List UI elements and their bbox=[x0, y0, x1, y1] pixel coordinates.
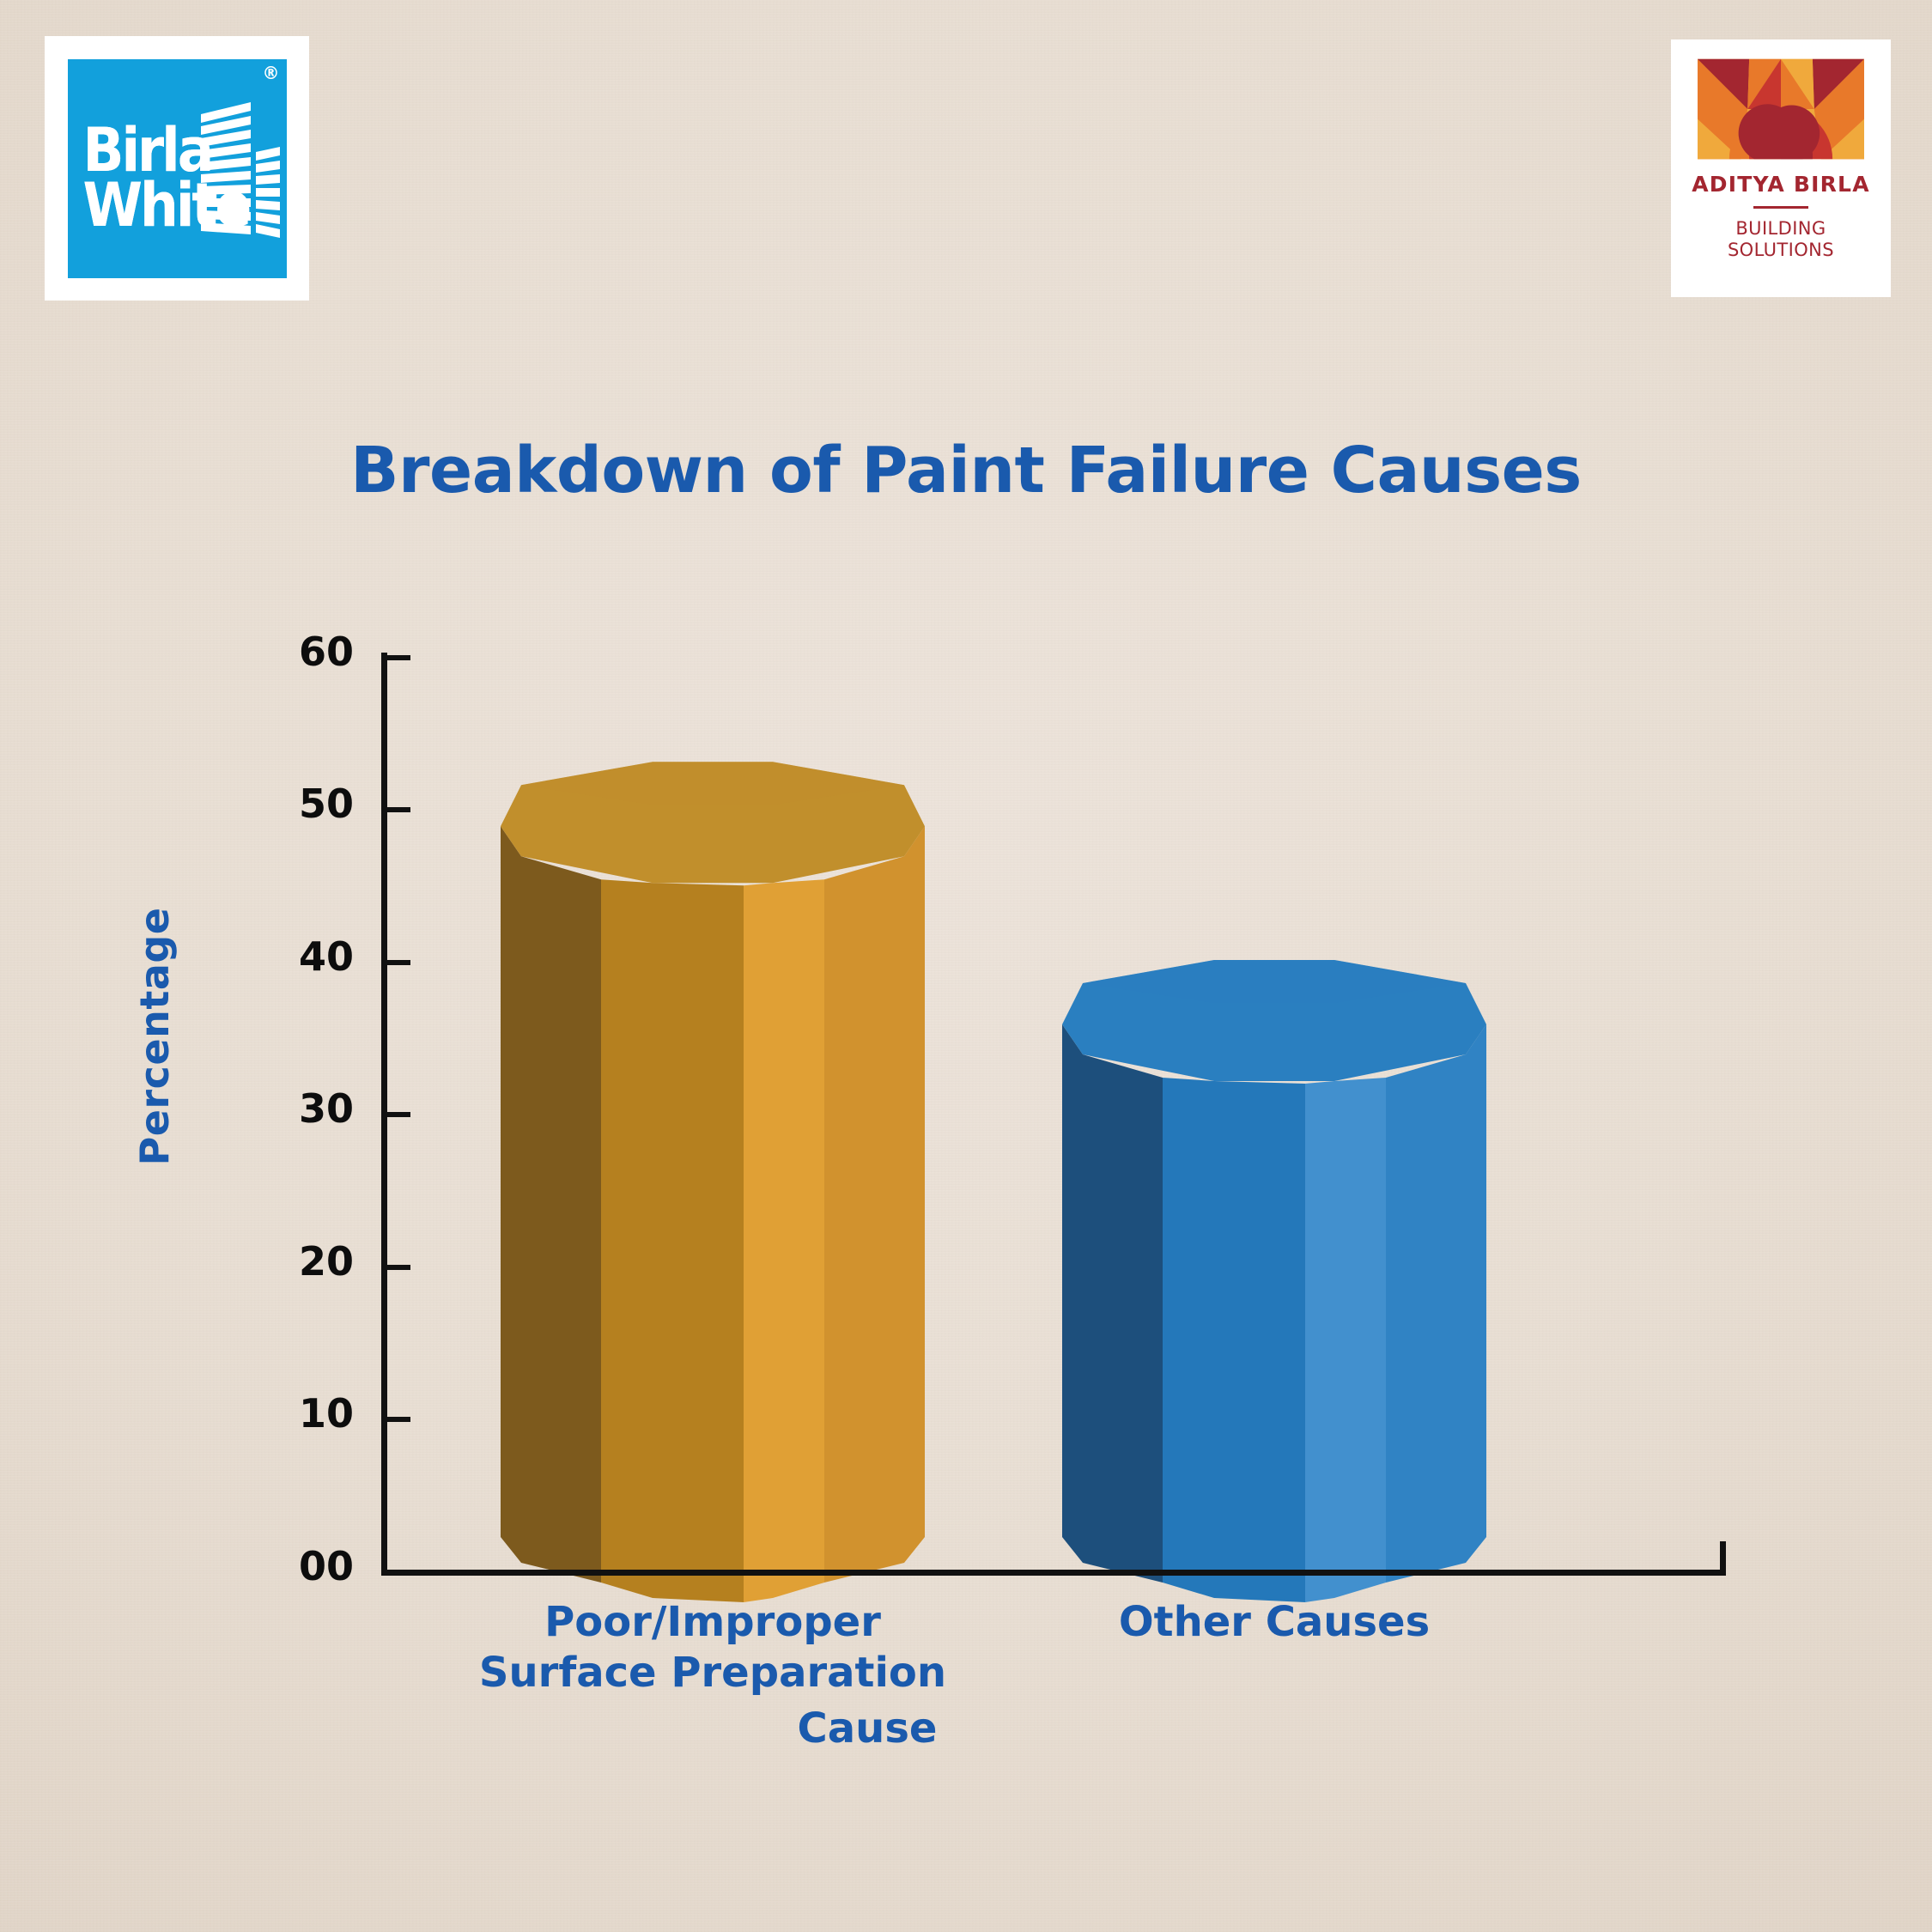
y-tick-10 bbox=[381, 1417, 410, 1422]
bar2-facet-edge bbox=[1386, 1024, 1486, 1583]
bar1-facet-dark bbox=[501, 826, 601, 1583]
logo-divider bbox=[1753, 206, 1808, 209]
x-category-label-0-line-1: Poor/Improper bbox=[455, 1597, 970, 1648]
y-tick-label-0: 00 bbox=[234, 1543, 354, 1589]
y-tick-0 bbox=[381, 1570, 410, 1575]
bar1-facet-light bbox=[744, 879, 824, 1602]
bar2-facet-mid bbox=[1163, 1078, 1305, 1602]
y-tick-label-30: 30 bbox=[234, 1085, 354, 1132]
tagline-line-2: SOLUTIONS bbox=[1728, 240, 1834, 261]
y-tick-50 bbox=[381, 807, 410, 812]
x-axis-end-tick bbox=[1720, 1541, 1726, 1571]
aditya-birla-sun-icon bbox=[1698, 58, 1864, 160]
y-tick-30 bbox=[381, 1112, 410, 1117]
birla-white-logo-tile: ® Birla bbox=[68, 59, 287, 278]
chart-title: Breakdown of Paint Failure Causes bbox=[0, 434, 1932, 507]
bar-poor-improper-surface-preparation[interactable] bbox=[501, 762, 925, 1602]
aditya-birla-logo: ADITYA BIRLA BUILDING SOLUTIONS bbox=[1671, 39, 1891, 297]
y-tick-label-40: 40 bbox=[234, 933, 354, 980]
bar1-facet-mid bbox=[601, 879, 744, 1602]
y-tick-label-10: 10 bbox=[234, 1390, 354, 1437]
bar1-facet-edge bbox=[824, 826, 925, 1583]
bar-other-causes[interactable] bbox=[1062, 960, 1486, 1602]
y-tick-40 bbox=[381, 960, 410, 965]
registered-trademark-icon: ® bbox=[263, 63, 280, 83]
aditya-birla-wordmark: ADITYA BIRLA bbox=[1692, 172, 1870, 197]
x-axis-line bbox=[381, 1570, 1726, 1576]
x-category-label-0: Poor/Improper Surface Preparation bbox=[455, 1597, 970, 1698]
y-tick-60 bbox=[381, 655, 410, 660]
y-tick-label-50: 50 bbox=[234, 781, 354, 827]
aditya-birla-tagline: BUILDING SOLUTIONS bbox=[1728, 218, 1834, 261]
bar2-facet-dark bbox=[1062, 1024, 1163, 1583]
birla-white-wordmark: Birla White bbox=[83, 123, 250, 234]
bar2-facet-light bbox=[1305, 1078, 1386, 1602]
x-category-label-1-line-1: Other Causes bbox=[1017, 1597, 1532, 1648]
y-tick-label-20: 20 bbox=[234, 1238, 354, 1285]
y-tick-20 bbox=[381, 1265, 410, 1270]
y-tick-label-60: 60 bbox=[234, 629, 354, 675]
x-category-label-1: Other Causes bbox=[1017, 1597, 1532, 1648]
x-category-label-0-line-2: Surface Preparation bbox=[455, 1648, 970, 1698]
y-axis-title: Percentage bbox=[131, 856, 178, 1217]
birla-white-logo: ® Birla bbox=[45, 36, 309, 301]
tagline-line-1: BUILDING bbox=[1728, 218, 1834, 240]
x-axis-title: Cause bbox=[601, 1704, 1133, 1753]
logo-line-2: White bbox=[83, 178, 250, 233]
